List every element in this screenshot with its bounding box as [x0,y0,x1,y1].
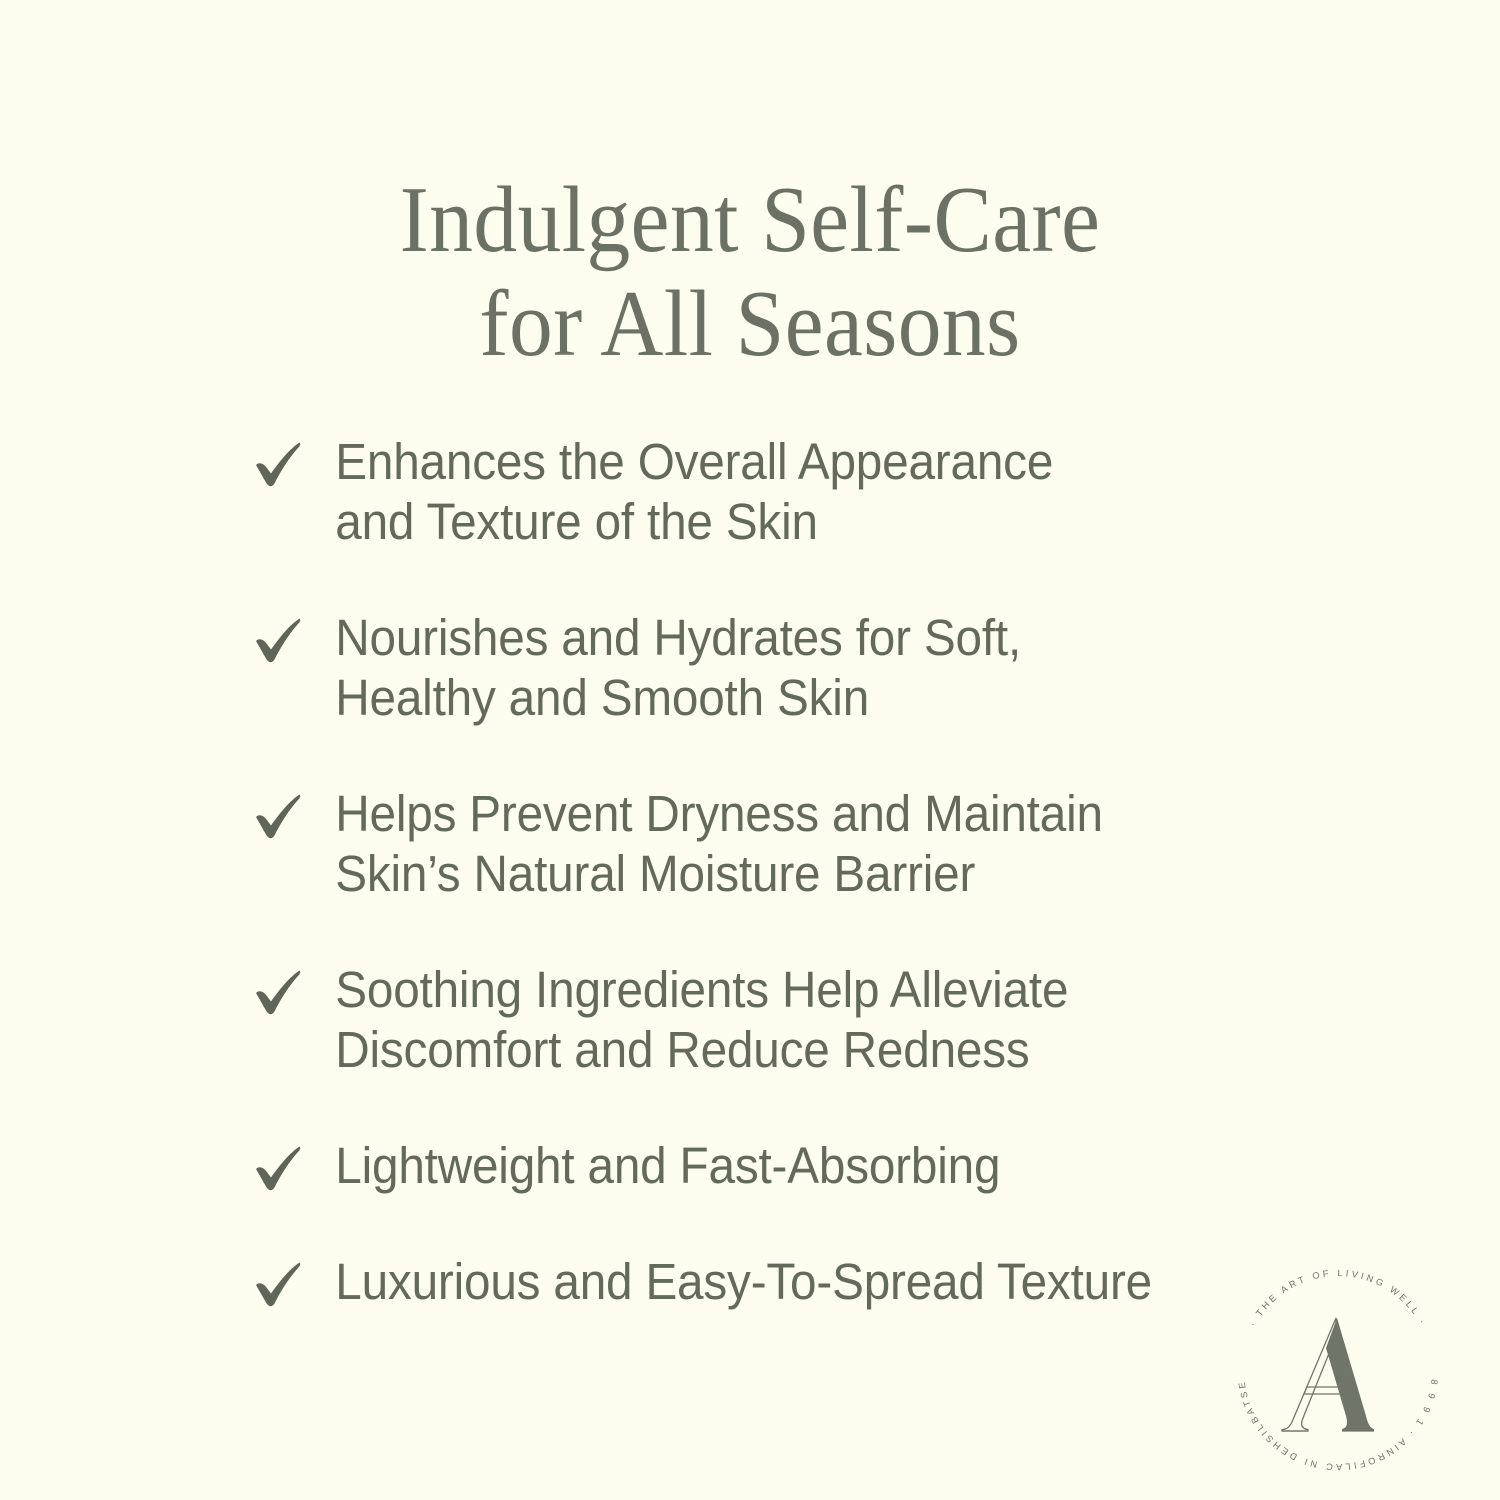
seal-ring-text-bottom: 8 9 9 1 · AINROFILAC NI DEHSILBATSE [1236,1379,1439,1472]
check-icon [252,790,310,842]
page-title-line-2: for All Seasons [53,272,1448,376]
check-icon [252,1142,310,1194]
list-item: Nourishes and Hydrates for Soft, Healthy… [252,608,1232,728]
list-item-label: Enhances the Overall Appearance and Text… [310,432,1172,552]
list-item: Luxurious and Easy-To-Spread Texture [252,1252,1232,1312]
seal-monogram-a [1282,1318,1374,1431]
seal-ring-text-top: · THE ART OF LIVING WELL · [1247,1268,1428,1328]
check-icon [252,966,310,1018]
page-title: Indulgent Self-Care for All Seasons [0,168,1500,376]
list-item-label: Helps Prevent Dryness and Maintain Skin’… [310,784,1172,904]
check-icon [252,614,310,666]
promo-graphic: Indulgent Self-Care for All Seasons Enha… [0,0,1500,1500]
list-item-label: Luxurious and Easy-To-Spread Texture [310,1252,1172,1312]
brand-seal-logo: · THE ART OF LIVING WELL · 8 9 9 1 · AIN… [1218,1250,1458,1490]
list-item: Soothing Ingredients Help Alleviate Disc… [252,960,1232,1080]
check-icon [252,438,310,490]
list-item: Enhances the Overall Appearance and Text… [252,432,1232,552]
list-item-label: Soothing Ingredients Help Alleviate Disc… [310,960,1172,1080]
list-item-label: Lightweight and Fast-Absorbing [310,1136,1172,1196]
list-item: Helps Prevent Dryness and Maintain Skin’… [252,784,1232,904]
list-item-label: Nourishes and Hydrates for Soft, Healthy… [310,608,1172,728]
benefits-list: Enhances the Overall Appearance and Text… [252,432,1232,1368]
list-item: Lightweight and Fast-Absorbing [252,1136,1232,1196]
check-icon [252,1258,310,1310]
page-title-line-1: Indulgent Self-Care [53,168,1448,272]
